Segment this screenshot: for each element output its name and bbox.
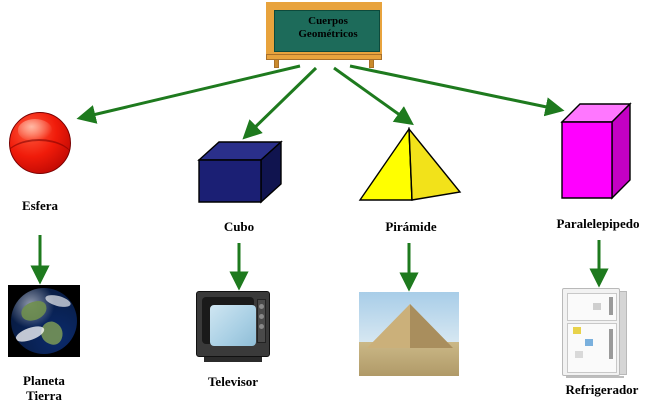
parallelepiped-icon [560,100,634,204]
blackboard-ledge [266,54,382,60]
label-esfera: Esfera [0,198,80,213]
label-cubo: Cubo [199,219,279,234]
label-televisor: Televisor [193,374,273,389]
label-planeta: Planeta [0,373,88,388]
earth-cloud [44,293,72,309]
label-planeta-tierra: Planeta Tierra [0,373,88,403]
sphere-shading-line [9,139,71,174]
blackboard-leg-left [274,59,279,68]
earth-landmass [19,299,49,323]
blackboard-title-line2: Geométricos [275,28,381,41]
tv-body [196,291,270,357]
fridge-body [562,288,620,376]
tv-knob [259,324,264,329]
earth-cloud [14,323,46,345]
arrow-board-to-esfera [80,66,300,118]
fridge-freezer-handle [609,297,613,315]
blackboard-slate: Cuerpos Geométricos [274,10,380,52]
photo-pyramid-face-dark [410,304,453,348]
tv-knob [259,314,264,319]
sphere-highlight [18,119,52,141]
diagram-canvas: Cuerpos Geométricos Esfera Cubo [0,0,648,419]
fridge-magnet [575,351,583,358]
tv-knob [259,304,264,309]
label-piramide: Pirámide [371,219,451,234]
arrow-board-to-paralelepipedo [350,66,561,110]
pyramid-photo-icon [359,292,459,376]
arrow-board-to-piramide [334,68,411,123]
blackboard-leg-right [369,59,374,68]
fridge-door-handle [609,329,613,359]
earth-photo-icon [8,285,80,357]
earth-globe [11,288,77,354]
refrigerator-icon [562,288,628,378]
fridge-magnet [573,327,581,334]
label-refrigerador: Refrigerador [556,382,648,397]
sphere-icon [9,112,71,174]
blackboard-frame: Cuerpos Geométricos [266,2,382,54]
blackboard-title: Cuerpos Geométricos [275,15,381,41]
fridge-side-panel [619,291,627,375]
blackboard-icon: Cuerpos Geométricos [266,2,386,66]
label-tierra: Tierra [0,388,88,403]
fridge-magnet [585,339,593,346]
blackboard-title-line1: Cuerpos [275,15,381,28]
television-icon [196,291,270,363]
fridge-shadow [566,376,624,378]
label-paralelepipedo: Paralelepipedo [548,216,648,231]
arrow-board-to-cubo [245,68,316,137]
tv-screen [210,305,256,346]
cube-icon [197,140,283,206]
tv-base [204,357,262,362]
fridge-magnet [593,303,601,310]
tv-bezel [202,297,254,344]
pyramid-icon [356,126,466,204]
